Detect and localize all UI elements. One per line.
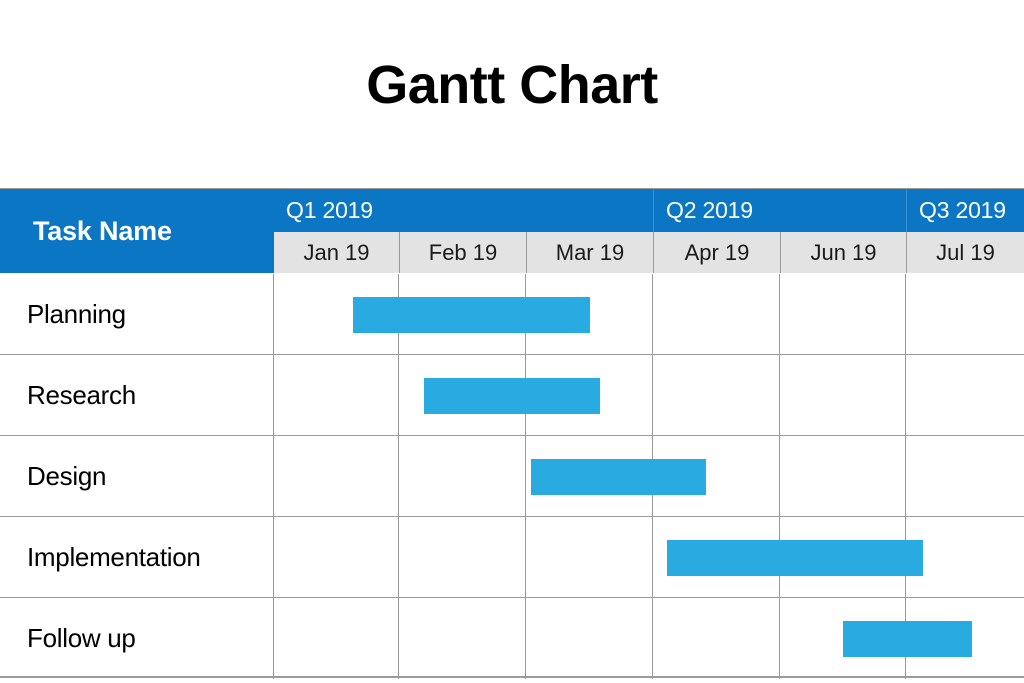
gantt-table: Task Name Q1 2019 Q2 2019 Q3 2019 Jan 19… — [0, 188, 1024, 678]
task-label-implementation: Implementation — [27, 517, 201, 598]
gantt-bar-implementation[interactable] — [667, 540, 923, 576]
gantt-bar-follow-up[interactable] — [843, 621, 972, 657]
quarter-header-q3: Q3 2019 — [906, 189, 1024, 232]
quarter-header-q2: Q2 2019 — [653, 189, 906, 232]
month-label-feb: Feb 19 — [429, 240, 498, 266]
month-header-row: Jan 19 Feb 19 Mar 19 Apr 19 Jun 19 Jul 1… — [274, 232, 1024, 273]
task-name-header-label: Task Name — [0, 216, 172, 247]
quarter-label-q2: Q2 2019 — [666, 197, 753, 224]
task-label-follow-up: Follow up — [27, 598, 136, 679]
table-row[interactable]: Research — [0, 355, 1024, 436]
month-label-mar: Mar 19 — [556, 240, 624, 266]
month-header-jun: Jun 19 — [780, 232, 906, 273]
month-label-jun: Jun 19 — [810, 240, 876, 266]
gantt-body: Planning Research Design Implementation … — [0, 274, 1024, 679]
task-label-planning: Planning — [27, 274, 126, 355]
month-header-feb: Feb 19 — [399, 232, 526, 273]
month-label-jan: Jan 19 — [303, 240, 369, 266]
table-row[interactable]: Follow up — [0, 598, 1024, 679]
month-header-apr: Apr 19 — [653, 232, 780, 273]
task-label-research: Research — [27, 355, 136, 436]
gantt-bar-design[interactable] — [531, 459, 706, 495]
gantt-header: Task Name Q1 2019 Q2 2019 Q3 2019 Jan 19… — [0, 189, 1024, 273]
gantt-bar-planning[interactable] — [353, 297, 590, 333]
quarter-header-row: Q1 2019 Q2 2019 Q3 2019 — [274, 189, 1024, 232]
quarter-label-q1: Q1 2019 — [286, 197, 373, 224]
month-header-jan: Jan 19 — [274, 232, 399, 273]
task-name-column-header: Task Name — [0, 189, 274, 273]
month-header-mar: Mar 19 — [526, 232, 653, 273]
table-row[interactable]: Planning — [0, 274, 1024, 355]
table-row[interactable]: Design — [0, 436, 1024, 517]
gantt-bar-research[interactable] — [424, 378, 600, 414]
quarter-header-q1: Q1 2019 — [274, 189, 653, 232]
page-title: Gantt Chart — [0, 58, 1024, 112]
month-label-jul: Jul 19 — [936, 240, 995, 266]
quarter-label-q3: Q3 2019 — [919, 197, 1006, 224]
task-label-design: Design — [27, 436, 106, 517]
month-header-jul: Jul 19 — [906, 232, 1024, 273]
month-label-apr: Apr 19 — [685, 240, 750, 266]
table-row[interactable]: Implementation — [0, 517, 1024, 598]
